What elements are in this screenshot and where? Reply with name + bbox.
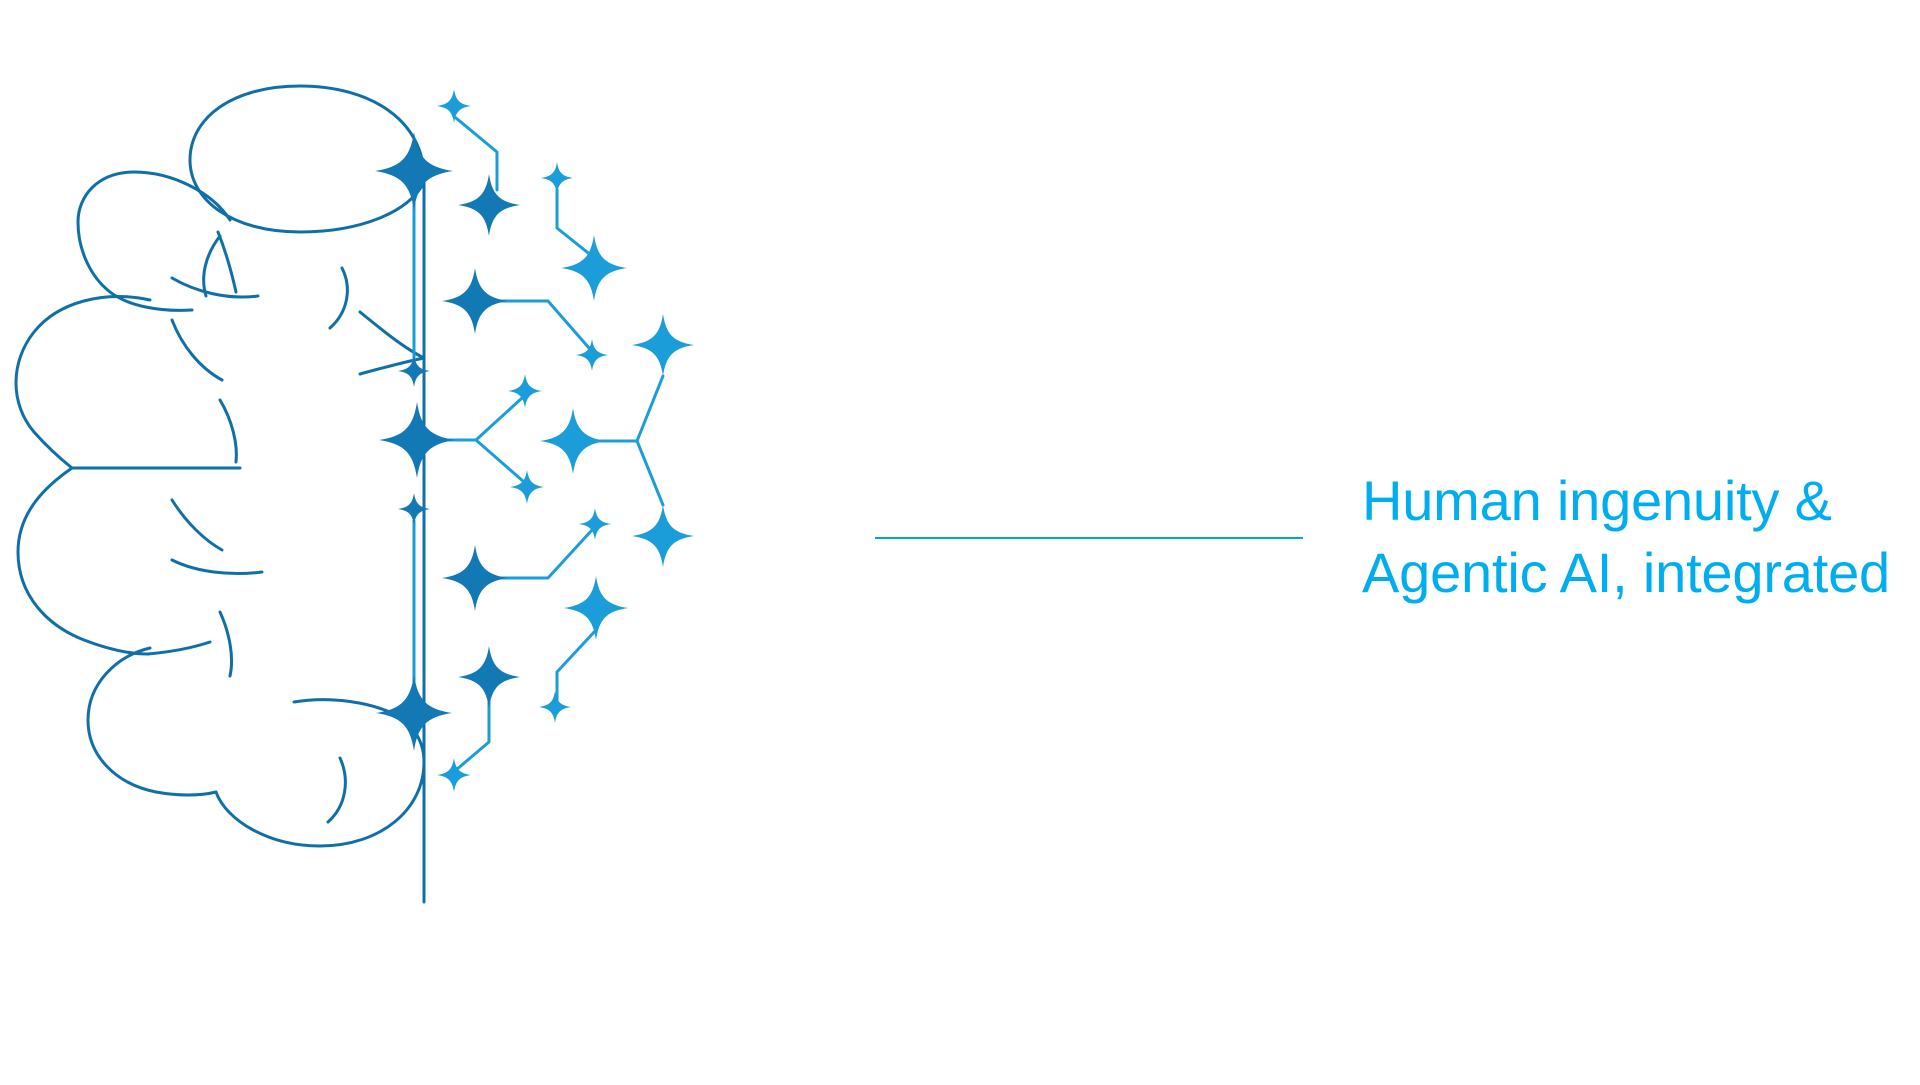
network-trace-t12 xyxy=(456,700,489,770)
network-trace-t07 xyxy=(596,376,663,441)
network-trace-t01 xyxy=(456,118,497,190)
sparkle-star-s20 xyxy=(458,646,520,708)
brain-fold-bottom-right xyxy=(328,758,345,822)
brain-fold-center-left xyxy=(172,320,222,380)
sparkle-star-s03 xyxy=(458,174,520,236)
brain-lobe-top-right xyxy=(190,86,424,232)
sparkle-star-s18 xyxy=(564,576,628,640)
brain-network-svg xyxy=(0,0,900,1080)
network-trace-group xyxy=(414,118,663,770)
horizontal-divider-rule xyxy=(875,537,1303,539)
sparkle-star-s05 xyxy=(561,235,627,301)
brain-fold-center-right xyxy=(172,278,258,297)
network-trace-t10 xyxy=(498,530,592,578)
sparkle-star-s07 xyxy=(576,339,608,371)
sparkle-star-s06 xyxy=(442,268,508,334)
brain-fold-upper-mid xyxy=(204,236,220,296)
brain-neural-network-illustration xyxy=(0,0,900,1080)
sparkle-star-s21 xyxy=(539,691,571,723)
brain-lobe-upper-left-bottom xyxy=(110,292,192,310)
sparkle-star-s02 xyxy=(375,132,453,210)
brain-fold-lower-mid xyxy=(220,612,232,676)
network-trace-t06 xyxy=(476,440,524,482)
brain-fold-lower-left-b xyxy=(172,560,262,574)
brain-fold-center-upper-a xyxy=(218,232,236,292)
network-trace-t05 xyxy=(440,398,522,440)
network-trace-t03 xyxy=(557,190,592,256)
brain-fold-mid-left xyxy=(220,400,236,462)
network-trace-t11 xyxy=(557,630,596,700)
headline-line-2: Agentic AI, integrated xyxy=(1362,537,1902,609)
sparkle-star-s08 xyxy=(632,314,694,376)
sparkle-star-s12 xyxy=(540,408,606,474)
brain-lobe-lower-left xyxy=(18,468,148,654)
sparkle-star-s10 xyxy=(508,374,542,408)
sparkle-star-s16 xyxy=(579,508,611,540)
network-trace-t04 xyxy=(498,301,589,348)
brain-fold-lower-left-a xyxy=(172,500,222,550)
sparkle-star-s17 xyxy=(442,545,508,611)
sparkle-star-s19 xyxy=(376,675,452,751)
headline: Human ingenuity & Agentic AI, integrated xyxy=(1362,465,1902,609)
brain-lobe-upper-left xyxy=(78,172,230,292)
sparkle-star-s04 xyxy=(541,162,573,194)
sparkle-star-s15 xyxy=(632,505,694,567)
brain-lobe-bottom-left xyxy=(88,648,216,795)
brain-fold-upper-right xyxy=(330,268,347,328)
brain-lobe-mid-left xyxy=(16,297,150,468)
headline-line-1: Human ingenuity & xyxy=(1362,465,1902,537)
poster-canvas: Human ingenuity & Agentic AI, integrated xyxy=(0,0,1920,1080)
brain-lobe-lower-left-bottom xyxy=(148,642,210,654)
sparkle-star-s11 xyxy=(379,402,455,478)
network-trace-t08 xyxy=(637,441,663,505)
brain-lobe-bottom-right xyxy=(216,716,424,846)
brain-outline-group xyxy=(16,86,424,902)
sparkle-star-s01 xyxy=(437,89,471,123)
